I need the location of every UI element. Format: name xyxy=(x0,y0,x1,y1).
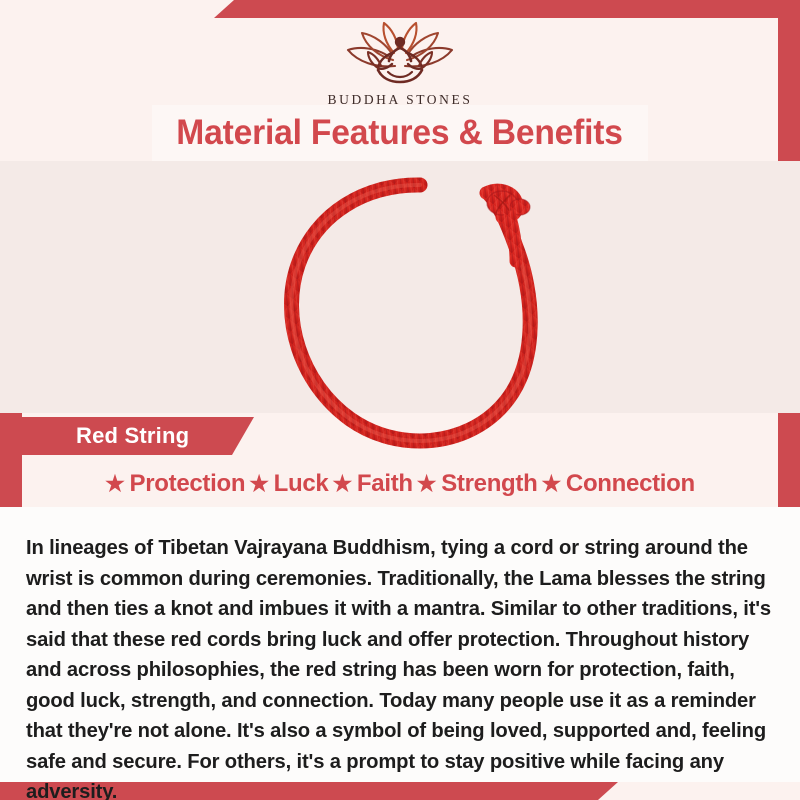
star-icon: ★ xyxy=(417,473,436,495)
product-tag-row: Red String xyxy=(0,413,800,459)
product-tag-label: Red String xyxy=(76,423,189,449)
description-text: In lineages of Tibetan Vajrayana Buddhis… xyxy=(26,533,774,800)
star-icon: ★ xyxy=(105,473,124,495)
brand-logo: BUDDHA STONES xyxy=(0,20,800,108)
star-icon: ★ xyxy=(541,473,560,495)
benefit-label: Strength xyxy=(441,470,537,498)
headline-band: Material Features & Benefits xyxy=(152,105,648,161)
benefit-item-connection: ★ Connection xyxy=(541,470,694,498)
benefit-item-luck: ★ Luck xyxy=(249,470,328,498)
benefit-item-strength: ★ Strength xyxy=(417,470,538,498)
benefit-label: Connection xyxy=(566,470,695,498)
lotus-meditation-figure-icon xyxy=(332,20,468,90)
benefit-item-protection: ★ Protection xyxy=(105,470,245,498)
page-title: Material Features & Benefits xyxy=(177,113,624,153)
top-accent-bar xyxy=(214,0,800,18)
poster-root: BUDDHA STONES Material Features & Benefi… xyxy=(0,0,800,800)
star-icon: ★ xyxy=(332,473,351,495)
benefit-label: Faith xyxy=(357,470,413,498)
benefit-item-faith: ★ Faith xyxy=(332,470,412,498)
benefit-label: Luck xyxy=(274,470,329,498)
benefits-row: ★ Protection ★ Luck ★ Faith ★ Strength ★… xyxy=(0,463,800,505)
product-image-panel xyxy=(0,161,800,413)
star-icon: ★ xyxy=(249,473,268,495)
benefit-label: Protection xyxy=(130,470,246,498)
product-tag: Red String xyxy=(14,417,254,455)
description-panel: In lineages of Tibetan Vajrayana Buddhis… xyxy=(0,507,800,782)
